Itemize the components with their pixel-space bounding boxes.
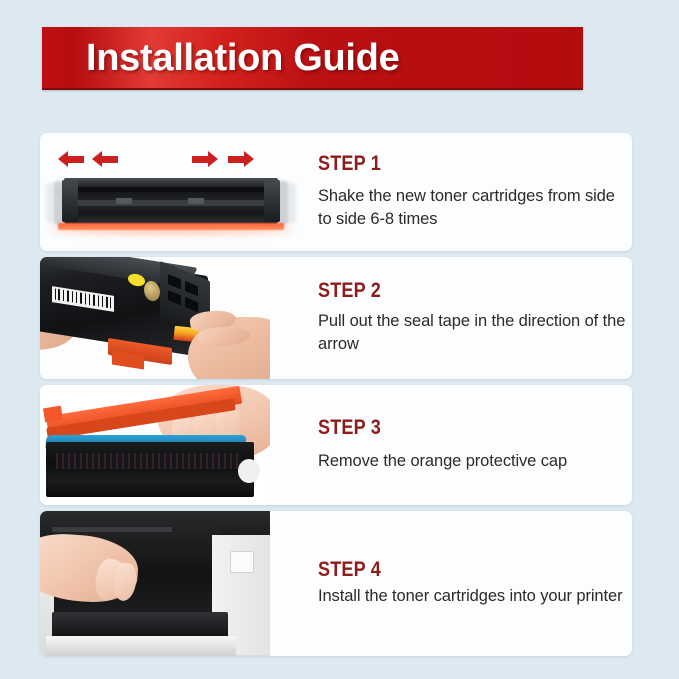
header-banner: Installation Guide	[42, 27, 583, 90]
step-1-label: STEP 1	[318, 153, 588, 174]
step-3-illustration	[40, 385, 270, 505]
arrow-left-icon	[92, 151, 118, 167]
steps-list: STEP 1 Shake the new toner cartridges fr…	[40, 133, 632, 662]
arrow-right-icon	[228, 151, 254, 167]
step-card-2: STEP 2 Pull out the seal tape in the dir…	[40, 257, 632, 379]
arrow-left-icon	[58, 151, 84, 167]
step-2-description: Pull out the seal tape in the direction …	[318, 310, 632, 357]
step-2-text: STEP 2 Pull out the seal tape in the dir…	[270, 257, 632, 379]
step-3-label: STEP 3	[318, 417, 588, 438]
step-3-text: STEP 3 Remove the orange protective cap	[270, 385, 632, 505]
arrow-right-icon	[192, 151, 218, 167]
step-1-text: STEP 1 Shake the new toner cartridges fr…	[305, 133, 632, 251]
step-4-description: Install the toner cartridges into your p…	[318, 585, 632, 608]
step-4-label: STEP 4	[318, 559, 588, 580]
step-card-1: STEP 1 Shake the new toner cartridges fr…	[40, 133, 632, 251]
toner-cartridge-photo	[46, 442, 254, 497]
step-card-3: STEP 3 Remove the orange protective cap	[40, 385, 632, 505]
step-4-illustration	[40, 511, 270, 656]
page-title: Installation Guide	[86, 39, 399, 77]
toner-cartridge-photo	[52, 612, 228, 638]
step-2-illustration	[40, 257, 270, 379]
installation-guide-page: Installation Guide	[0, 0, 679, 679]
toner-cartridge-graphic	[56, 178, 286, 230]
step-card-4: STEP 4 Install the toner cartridges into…	[40, 511, 632, 656]
step-4-text: STEP 4 Install the toner cartridges into…	[270, 511, 632, 656]
step-2-label: STEP 2	[318, 280, 588, 301]
step-1-illustration	[40, 133, 305, 251]
step-1-description: Shake the new toner cartridges from side…	[318, 185, 632, 232]
step-3-description: Remove the orange protective cap	[318, 450, 632, 473]
